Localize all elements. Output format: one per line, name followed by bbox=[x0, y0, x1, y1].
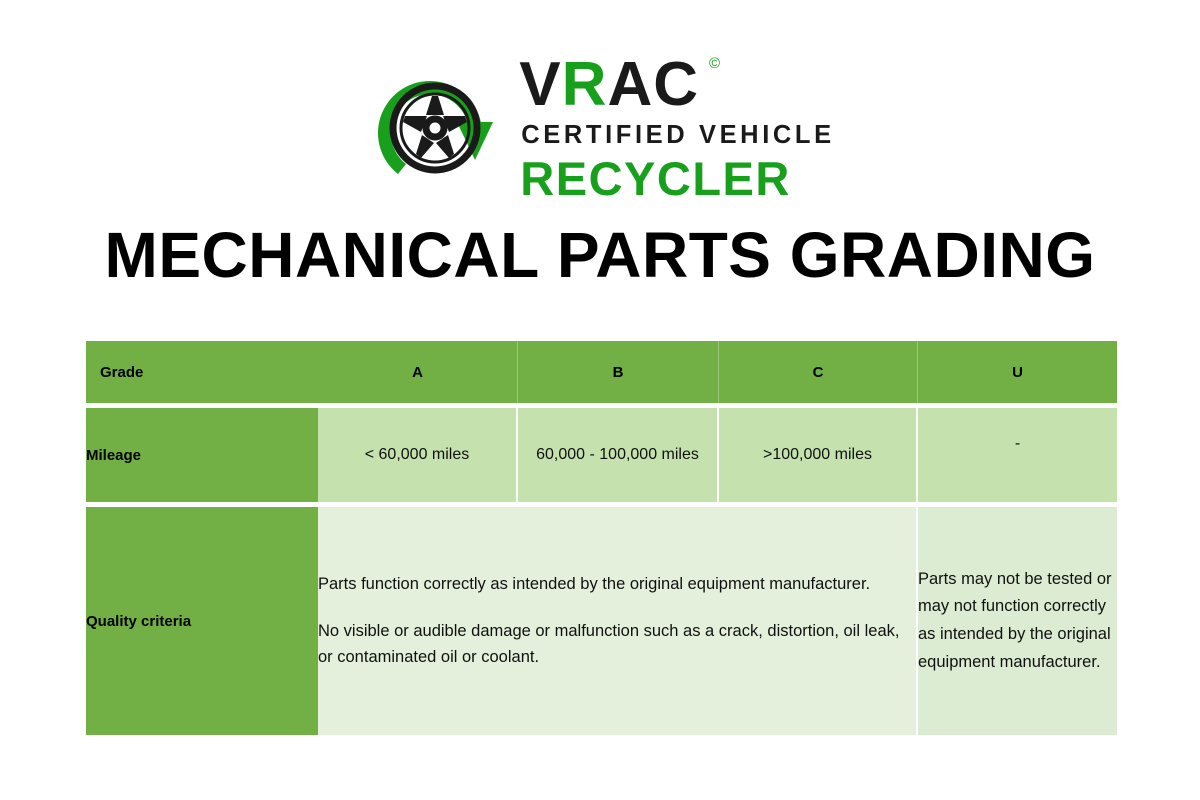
grading-poster: VRAC© CERTIFIED VEHICLE RECYCLER MECHANI… bbox=[0, 0, 1200, 800]
header-cell-grade: Grade bbox=[86, 341, 318, 403]
logo-recycler-line: RECYCLER bbox=[520, 155, 791, 202]
mileage-cell-c: >100,000 miles bbox=[719, 408, 918, 502]
logo-tagline: CERTIFIED VEHICLE bbox=[521, 123, 834, 149]
mileage-cell-b: 60,000 - 100,000 miles bbox=[518, 408, 719, 502]
grading-table: Grade A B C U Mileage < 60,000 miles 60,… bbox=[86, 341, 1117, 735]
mileage-cell-u: - bbox=[918, 408, 1117, 502]
recycling-wheel-icon bbox=[365, 56, 505, 196]
row-label-quality-criteria: Quality criteria bbox=[86, 507, 318, 735]
vrac-logo: VRAC© CERTIFIED VEHICLE RECYCLER bbox=[0, 52, 1200, 200]
criteria-u-paragraph: Parts may not be tested or may not funct… bbox=[918, 566, 1117, 677]
criteria-paragraph-1: Parts function correctly as intended by … bbox=[318, 571, 916, 598]
header-cell-b: B bbox=[518, 341, 719, 403]
criteria-cell-abc: Parts function correctly as intended by … bbox=[318, 507, 918, 735]
header-cell-a: A bbox=[318, 341, 518, 403]
table-row-quality-criteria: Quality criteria Parts function correctl… bbox=[86, 507, 1117, 735]
table-header-row: Grade A B C U bbox=[86, 341, 1117, 403]
mileage-cell-a: < 60,000 miles bbox=[318, 408, 518, 502]
header-cell-c: C bbox=[719, 341, 918, 403]
logo-wordmark: VRAC© CERTIFIED VEHICLE RECYCLER bbox=[519, 50, 834, 202]
logo-letter-v: V bbox=[519, 50, 561, 119]
logo-inner: VRAC© CERTIFIED VEHICLE RECYCLER bbox=[365, 50, 834, 202]
page-title: MECHANICAL PARTS GRADING bbox=[0, 218, 1200, 292]
header-cell-u: U bbox=[918, 341, 1117, 403]
logo-brand-line: VRAC© bbox=[519, 54, 699, 116]
copyright-icon: © bbox=[709, 56, 721, 71]
logo-letters-ac: AC bbox=[607, 50, 699, 119]
criteria-paragraph-2: No visible or audible damage or malfunct… bbox=[318, 618, 916, 671]
table-row-mileage: Mileage < 60,000 miles 60,000 - 100,000 … bbox=[86, 408, 1117, 502]
criteria-cell-u: Parts may not be tested or may not funct… bbox=[918, 507, 1117, 735]
logo-letter-r: R bbox=[562, 50, 608, 119]
row-label-mileage: Mileage bbox=[86, 408, 318, 502]
